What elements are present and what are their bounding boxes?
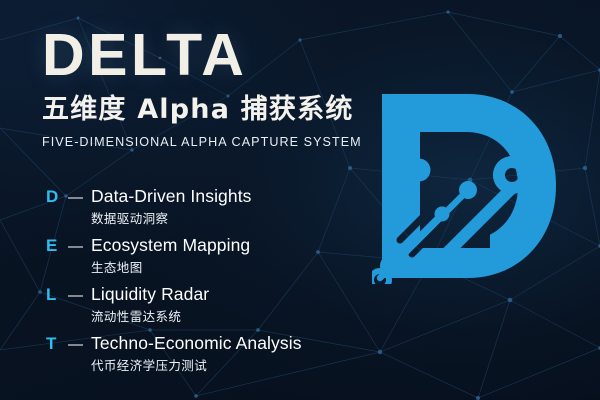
pillar-main-row: D — Data-Driven Insights (46, 186, 386, 207)
pillar-dash: — (68, 287, 83, 304)
pillar-main-row: E — Ecosystem Mapping (46, 235, 386, 256)
pillar-item-d: D — Data-Driven Insights 数据驱动洞察 (46, 186, 386, 227)
pillar-title: Ecosystem Mapping (91, 235, 250, 256)
pillar-item-l: L — Liquidity Radar 流动性雷达系统 (46, 284, 386, 325)
pillar-title: Techno-Economic Analysis (91, 333, 302, 354)
pillar-dash: — (68, 189, 83, 206)
pillar-title: Liquidity Radar (91, 284, 209, 305)
headline-chinese: 五维度 Alpha 捕获系统 (42, 96, 392, 125)
pillar-subtitle-chinese: 生态地图 (91, 257, 386, 276)
wordmark-delta: DELTA (42, 26, 392, 85)
brand-logo (372, 88, 562, 284)
pillar-subtitle-chinese: 流动性雷达系统 (91, 306, 386, 325)
pillar-key-letter: E (46, 236, 62, 256)
pillar-key-letter: L (46, 285, 62, 305)
poster-canvas: DELTA 五维度 Alpha 捕获系统 FIVE-DIMENSIONAL AL… (0, 0, 600, 400)
brand-header: DELTA 五维度 Alpha 捕获系统 FIVE-DIMENSIONAL AL… (42, 26, 392, 149)
subheadline-english: FIVE-DIMENSIONAL ALPHA CAPTURE SYSTEM (42, 135, 392, 149)
pillar-key-letter: D (46, 187, 62, 207)
delta-d-circuit-icon (372, 88, 562, 284)
pillar-subtitle-chinese: 数据驱动洞察 (91, 208, 386, 227)
pillar-main-row: T — Techno-Economic Analysis (46, 333, 386, 354)
pillar-key-letter: T (46, 334, 62, 354)
pillar-item-e: E — Ecosystem Mapping 生态地图 (46, 235, 386, 276)
pillar-subtitle-chinese: 代币经济学压力测试 (91, 355, 386, 374)
pillar-dash: — (68, 336, 83, 353)
pillar-main-row: L — Liquidity Radar (46, 284, 386, 305)
pillar-title: Data-Driven Insights (91, 186, 252, 207)
pillar-item-t: T — Techno-Economic Analysis 代币经济学压力测试 (46, 333, 386, 374)
pillar-dash: — (68, 238, 83, 255)
pillar-list: D — Data-Driven Insights 数据驱动洞察 E — Ecos… (46, 186, 386, 374)
